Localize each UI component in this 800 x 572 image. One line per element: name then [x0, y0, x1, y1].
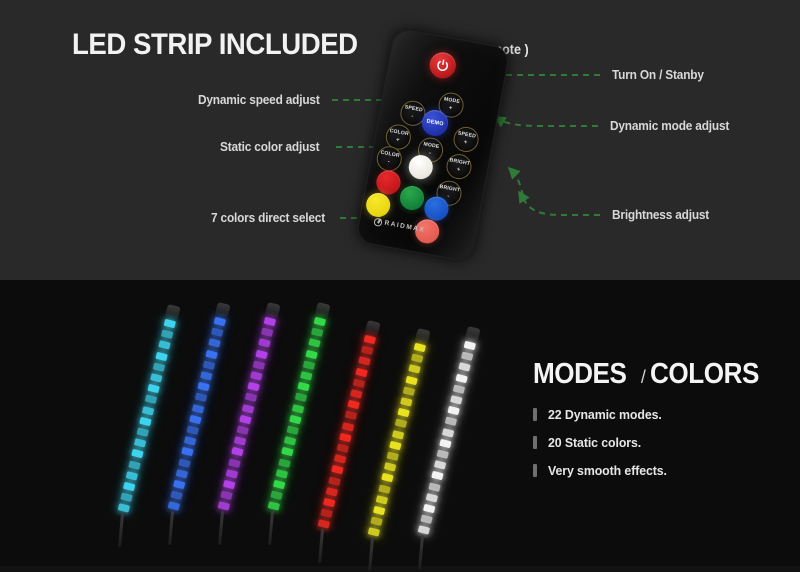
strip-led — [387, 451, 399, 460]
callout-static-color: Static color adjust — [220, 140, 319, 154]
strip-led — [253, 360, 265, 369]
strip-led — [420, 515, 432, 524]
bullet-bar-icon — [533, 464, 537, 477]
power-icon — [435, 57, 451, 73]
strip-led — [281, 447, 293, 456]
strip-led — [439, 439, 451, 448]
strip-wire-tail — [318, 529, 323, 563]
strip-led — [456, 373, 468, 382]
strip-led — [168, 502, 180, 511]
strips-section: MODES / COLORS 22 Dynamic modes.20 Stati… — [0, 280, 800, 566]
strip-led — [223, 480, 235, 489]
strip-led — [242, 404, 254, 413]
strip-led — [311, 328, 323, 337]
strip-led — [228, 458, 240, 467]
strip-led — [208, 339, 220, 348]
strip-led — [289, 415, 301, 424]
strip-led — [234, 436, 246, 445]
strip-led — [118, 504, 130, 513]
strip-led — [345, 411, 357, 420]
strip-led — [287, 425, 299, 434]
strip-led — [292, 404, 304, 413]
strip-led — [461, 352, 473, 361]
strip-led — [453, 384, 465, 393]
strip-wire-tail — [418, 535, 423, 569]
strip-led — [173, 480, 185, 489]
strip-led — [384, 462, 396, 471]
strip-led — [464, 341, 476, 350]
strip-led — [397, 408, 409, 417]
strip-led — [403, 386, 415, 395]
strip-led — [164, 319, 176, 328]
product-infographic: LED STRIP INCLUDED ( RF Wireless Remote … — [0, 0, 800, 566]
color-swatch-yellow[interactable] — [364, 191, 392, 219]
strip-wire-tail — [218, 511, 223, 545]
bullet-bar-icon — [533, 436, 537, 449]
strip-led — [458, 363, 470, 372]
strip-led — [181, 447, 193, 456]
colors-word: COLORS — [650, 358, 759, 391]
strip-led — [197, 382, 209, 391]
strip-led — [147, 384, 159, 393]
strip-led — [161, 330, 173, 339]
strip-led — [153, 362, 165, 371]
strip-led — [437, 449, 449, 458]
strip-led — [376, 495, 388, 504]
strip-led — [331, 465, 343, 474]
strip-led — [237, 425, 249, 434]
strip-led — [306, 349, 318, 358]
strip-led — [150, 373, 162, 382]
strip-led — [214, 317, 226, 326]
strip-body — [416, 337, 478, 539]
strip-led — [145, 395, 157, 404]
modes-colors-block: MODES / COLORS 22 Dynamic modes.20 Stati… — [533, 358, 771, 478]
callout-dynamic-speed: Dynamic speed adjust — [198, 93, 320, 107]
strip-led — [426, 493, 438, 502]
strip-led — [364, 335, 376, 344]
callout-7-colors: 7 colors direct select — [211, 211, 325, 225]
callout-brightness: Brightness adjust — [612, 208, 709, 222]
strip-led — [200, 371, 212, 380]
strip-led — [273, 480, 285, 489]
strip-led — [247, 382, 259, 391]
remote-section: LED STRIP INCLUDED ( RF Wireless Remote … — [0, 0, 800, 280]
strip-led — [195, 393, 207, 402]
strip-led — [400, 397, 412, 406]
strip-led — [295, 393, 307, 402]
strip-led — [178, 458, 190, 467]
modes-list-item-label: 22 Dynamic modes. — [548, 407, 662, 422]
strip-led — [142, 406, 154, 415]
callout-turn-on-standby: Turn On / Stanby — [612, 68, 704, 82]
strip-led — [250, 371, 262, 380]
strip-body — [366, 339, 428, 541]
strip-led — [231, 447, 243, 456]
strip-led — [258, 339, 270, 348]
strip-led — [192, 404, 204, 413]
strip-led — [337, 443, 349, 452]
strip-led — [314, 317, 326, 326]
modes-list-item-label: 20 Static colors. — [548, 435, 641, 450]
strip-led — [297, 382, 309, 391]
strip-wire-tail — [368, 537, 373, 571]
bullet-bar-icon — [533, 408, 537, 421]
strip-led — [239, 415, 251, 424]
strip-led — [326, 487, 338, 496]
strip-led — [268, 502, 280, 511]
strip-led — [423, 504, 435, 513]
modes-colors-title: MODES / COLORS — [533, 358, 771, 391]
strip-led — [131, 449, 143, 458]
strip-led — [431, 471, 443, 480]
speed-plus-button[interactable]: SPEED + — [451, 125, 480, 154]
raidmax-mark-icon — [373, 218, 382, 227]
strip-led — [414, 343, 426, 352]
strip-body — [266, 313, 328, 515]
strip-led — [381, 473, 393, 482]
strip-led — [361, 346, 373, 355]
strip-led — [450, 395, 462, 404]
strip-led — [445, 417, 457, 426]
strip-led — [303, 360, 315, 369]
strip-led — [156, 351, 168, 360]
strip-led — [158, 341, 170, 350]
strip-led — [300, 371, 312, 380]
strip-led — [139, 417, 151, 426]
strip-led — [373, 506, 385, 515]
modes-list-item-label: Very smooth effects. — [548, 463, 667, 478]
strip-led — [406, 375, 418, 384]
strip-led — [378, 484, 390, 493]
strip-led — [206, 349, 218, 358]
strip-led — [170, 491, 182, 500]
strip-led — [408, 365, 420, 374]
strip-led — [284, 436, 296, 445]
strip-led — [278, 458, 290, 467]
strip-led — [320, 509, 332, 518]
strip-led — [447, 406, 459, 415]
modes-feature-list: 22 Dynamic modes.20 Static colors.Very s… — [533, 407, 771, 478]
strip-led — [389, 441, 401, 450]
strip-led — [368, 528, 380, 537]
callout-dynamic-mode: Dynamic mode adjust — [610, 119, 729, 133]
modes-list-item: 20 Static colors. — [533, 435, 771, 450]
strip-led — [308, 339, 320, 348]
strip-led — [245, 393, 257, 402]
strip-led — [418, 526, 430, 535]
strip-led — [226, 469, 238, 478]
strip-led — [350, 389, 362, 398]
modes-list-item: Very smooth effects. — [533, 463, 771, 478]
strip-led — [220, 491, 232, 500]
strip-led — [323, 498, 335, 507]
raidmax-logo: RAIDMAX — [373, 218, 425, 235]
strip-led — [392, 430, 404, 439]
strip-led — [328, 476, 340, 485]
strip-led — [123, 482, 135, 491]
strip-led — [353, 378, 365, 387]
strip-led — [137, 427, 149, 436]
color-swatch-green[interactable] — [398, 184, 426, 212]
strip-led — [176, 469, 188, 478]
strip-led — [134, 438, 146, 447]
strip-body — [216, 313, 278, 515]
bright-plus-button[interactable]: BRIGHT + — [444, 152, 473, 181]
strip-led — [276, 469, 288, 478]
strip-body — [316, 331, 378, 533]
strip-led — [270, 491, 282, 500]
rf-remote-control: MODE + SPEED - SPEED + COLOR + MODE - — [374, 36, 534, 266]
strip-led — [211, 328, 223, 337]
modes-word: MODES — [533, 358, 626, 391]
strip-led — [347, 400, 359, 409]
strip-led — [203, 360, 215, 369]
strip-led — [184, 436, 196, 445]
strip-led — [126, 471, 138, 480]
strip-led — [189, 415, 201, 424]
strip-led — [261, 328, 273, 337]
strip-wire-tail — [118, 513, 123, 547]
strip-led — [428, 482, 440, 491]
led-strip-gallery — [0, 280, 520, 566]
strip-led — [411, 354, 423, 363]
strip-led — [128, 460, 140, 469]
strip-led — [256, 349, 268, 358]
modes-list-item: 22 Dynamic modes. — [533, 407, 771, 422]
strip-led — [339, 433, 351, 442]
strip-led — [120, 493, 132, 502]
strip-led — [218, 502, 230, 511]
strip-led — [187, 425, 199, 434]
strip-led — [342, 422, 354, 431]
power-button[interactable] — [428, 50, 458, 80]
strip-led — [442, 428, 454, 437]
strip-led — [395, 419, 407, 428]
strip-wire-tail — [268, 511, 273, 545]
strip-led — [356, 367, 368, 376]
strip-led — [318, 520, 330, 529]
strip-led — [264, 317, 276, 326]
strip-led — [370, 517, 382, 526]
strip-led — [334, 454, 346, 463]
strip-wire-tail — [168, 511, 173, 545]
title-separator: / — [641, 367, 646, 388]
strip-led — [434, 460, 446, 469]
strip-led — [358, 357, 370, 366]
strip-body — [166, 313, 228, 515]
strip-body — [116, 315, 178, 517]
